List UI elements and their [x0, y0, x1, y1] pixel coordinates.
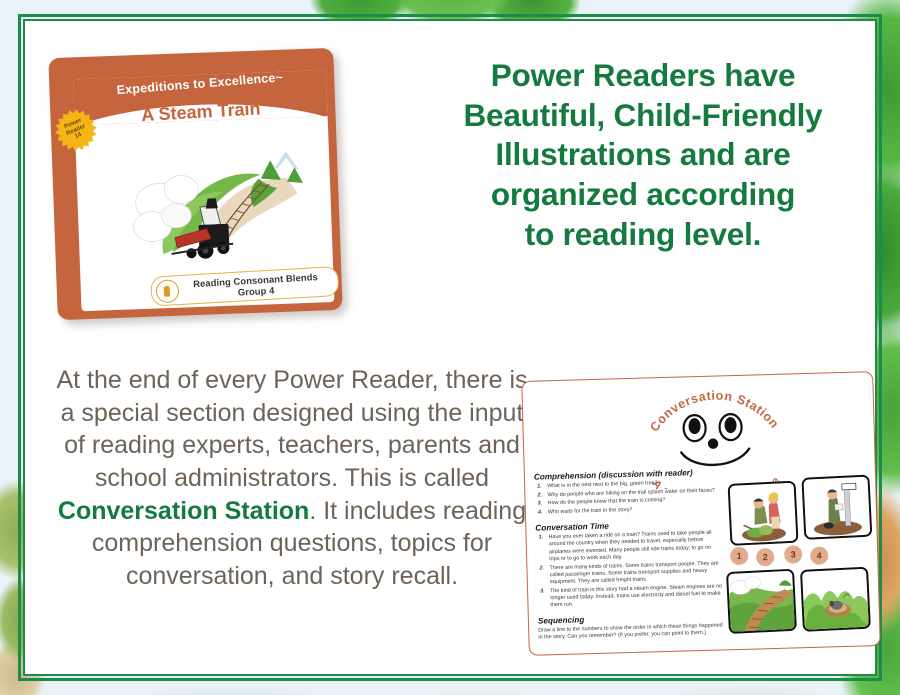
item-number: 1. — [539, 535, 544, 542]
worksheet-text-column: Comprehension (discussion with reader) 1… — [534, 467, 725, 642]
page-title: Power Readers have Beautiful, Child-Frie… — [408, 56, 878, 254]
item-text: There are many kinds of trains. Some tra… — [549, 560, 718, 585]
list-item: 1.Have you ever taken a ride on a train?… — [536, 530, 723, 564]
list-item: 2.There are many kinds of trains. Some t… — [536, 560, 723, 587]
conversation-time-items: 1.Have you ever taken a ride on a train?… — [536, 530, 724, 610]
item-number: 1. — [537, 483, 542, 490]
slide-canvas: Power Readers have Beautiful, Child-Frie… — [0, 0, 900, 695]
item-text: Who waits for the train in the story? — [548, 507, 633, 515]
item-number: 2. — [539, 565, 544, 572]
steam-train-illustration — [109, 137, 314, 274]
item-text: What is in the nest next to the big, gre… — [547, 480, 657, 489]
headline-line: Power Readers have — [408, 56, 878, 96]
item-text: The kind of train in this story had a st… — [550, 583, 722, 608]
item-number: 2. — [537, 492, 542, 499]
item-number: 3. — [540, 588, 545, 595]
sequencing-panel-hikers[interactable] — [728, 481, 799, 546]
list-item: 3.The kind of train in this story had a … — [537, 583, 724, 610]
body-paragraph: At the end of every Power Reader, there … — [47, 364, 537, 592]
item-number: 3. — [538, 501, 543, 508]
headline-line: Illustrations and are — [408, 135, 878, 175]
svg-text:Conversation Station: Conversation Station — [646, 387, 782, 435]
sequencing-panel-signal-post[interactable] — [801, 475, 872, 540]
headline-line: Beautiful, Child-Friendly — [408, 96, 878, 136]
cover-banner-label: Reading Consonant Blends Group 4 — [178, 270, 338, 301]
comprehension-questions: 1.What is in the nest next to the big, g… — [534, 478, 721, 516]
slide-content: Power Readers have Beautiful, Child-Frie… — [25, 21, 875, 674]
book-cover[interactable]: Expeditions to Excellence~ A Steam Train… — [48, 48, 342, 320]
badge-line-3: 14 — [74, 132, 83, 141]
headline-line: organized according — [408, 175, 878, 215]
sequencing-panel-bird-nest[interactable] — [800, 567, 871, 632]
body-text-before: At the end of every Power Reader, there … — [56, 366, 527, 492]
conversation-station-worksheet[interactable]: Conversation Station A Place to Talk and… — [521, 371, 881, 656]
sequencing-panel-train-track[interactable] — [726, 569, 797, 634]
headline-line: to reading level. — [408, 215, 878, 255]
reading-rooster-logo-icon — [155, 279, 179, 303]
item-text: How do the people know that the train is… — [548, 497, 666, 506]
item-text: Have you ever taken a ride on a train? T… — [549, 530, 712, 562]
item-number: 4. — [538, 509, 543, 516]
conversation-station-highlight: Conversation Station — [58, 497, 309, 525]
